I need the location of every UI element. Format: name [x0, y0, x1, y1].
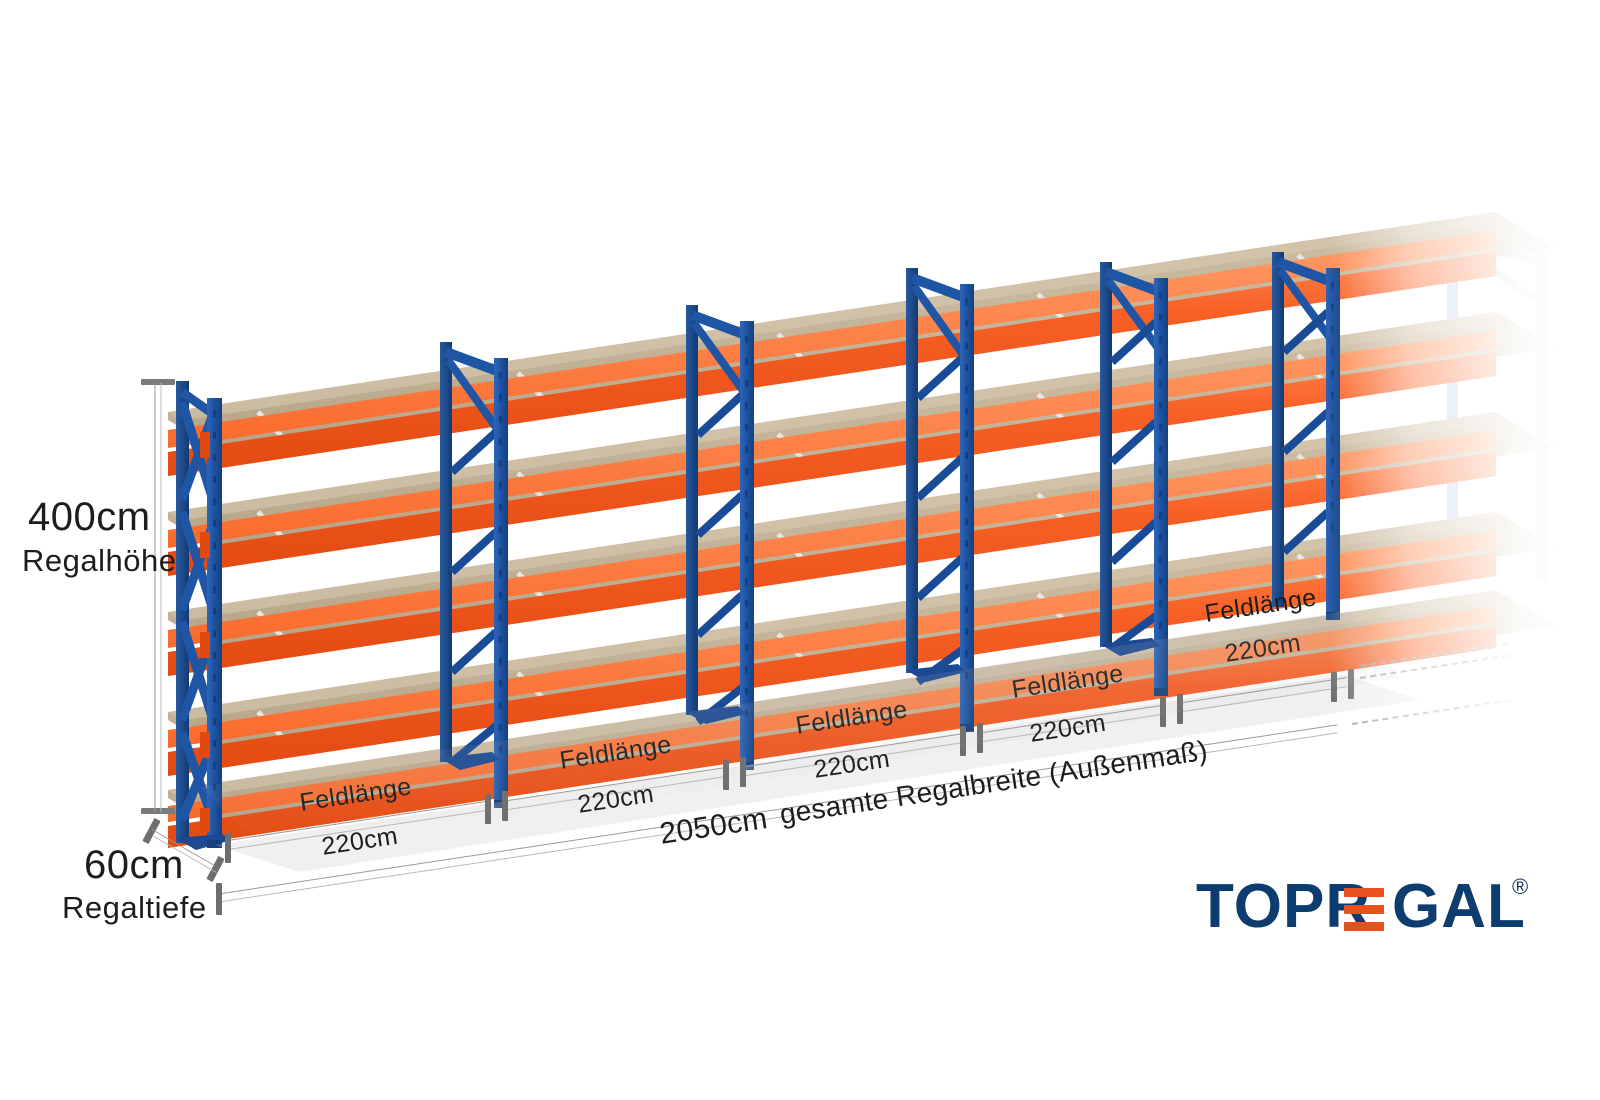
logo-e-bar-middle [1344, 905, 1384, 914]
height-dim-top-cap [141, 379, 175, 385]
bay-1-tick-end-b [502, 791, 508, 821]
logo-e-icon [1344, 888, 1384, 932]
height-label: Regalhöhe [22, 543, 176, 579]
bay-4-tick-end-b [1177, 694, 1183, 724]
bay-1-tick-end-a [485, 794, 491, 824]
height-value: 400cm [28, 495, 151, 540]
depth-label: Regaltiefe [62, 890, 207, 926]
bay-4-tick-end-a [1160, 697, 1166, 727]
bay-5-tick-end-a [1331, 672, 1337, 702]
bay-2-tick-end-b [740, 757, 746, 787]
bay-5-tick-end-b [1348, 669, 1354, 699]
bay-2-tick-end-a [723, 760, 729, 790]
product-dimension-diagram: 400cm Regalhöhe 60cm Regaltiefe Feldläng… [0, 0, 1600, 1100]
logo-e-bar-top [1344, 888, 1384, 897]
registered-trademark-icon: ® [1512, 874, 1528, 900]
height-dim-bottom-cap [141, 808, 175, 814]
height-dim-line-b [161, 383, 162, 813]
logo-e-bar-bottom [1344, 922, 1384, 931]
depth-value: 60cm [84, 843, 184, 888]
bay-3-tick-end-a [960, 726, 966, 756]
logo-text-part-2: GAL [1392, 872, 1526, 942]
total-width-tick-start [216, 883, 222, 915]
bay-3-tick-end-b [977, 723, 983, 753]
bay-1-tick-start [225, 833, 231, 863]
topregal-logo: TOPR GAL ® [1196, 872, 1526, 942]
height-dim-line-a [155, 383, 156, 813]
